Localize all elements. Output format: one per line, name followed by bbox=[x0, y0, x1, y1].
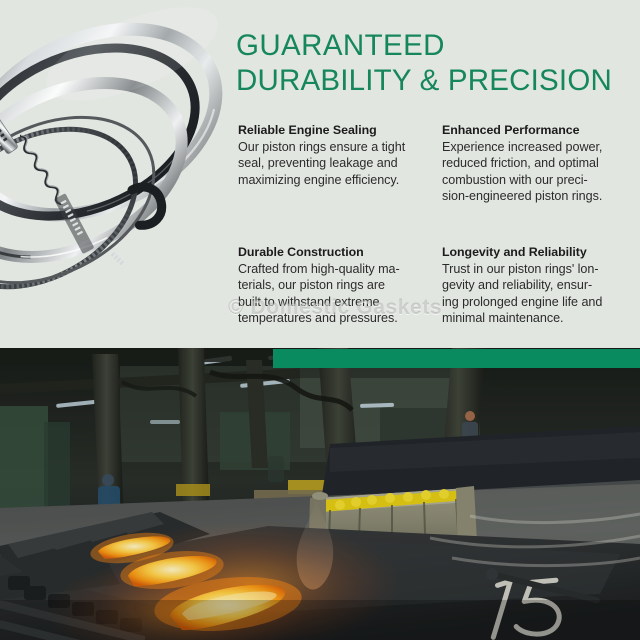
headline: GUARANTEED DURABILITY & PRECISION bbox=[236, 28, 636, 98]
feature-longevity-and-reliability: Longevity and Reliability Trust in our p… bbox=[442, 244, 636, 327]
piston-rings-image bbox=[0, 0, 230, 346]
headline-line-2: DURABILITY & PRECISION bbox=[236, 63, 636, 98]
feature-body: Experience increased power, reduced fric… bbox=[442, 139, 636, 205]
feature-body: Trust in our piston rings' lon- gevity a… bbox=[442, 261, 636, 327]
feature-title: Longevity and Reliability bbox=[442, 244, 636, 260]
feature-title: Durable Construction bbox=[238, 244, 442, 260]
green-accent-bar bbox=[273, 349, 640, 368]
feature-body: Crafted from high-quality ma- terials, o… bbox=[238, 261, 442, 327]
factory-photo bbox=[0, 348, 640, 640]
headline-line-1: GUARANTEED bbox=[236, 28, 636, 63]
marketing-banner: GUARANTEED DURABILITY & PRECISION Reliab… bbox=[0, 0, 640, 640]
feature-reliable-engine-sealing: Reliable Engine Sealing Our piston rings… bbox=[238, 122, 442, 244]
top-panel: GUARANTEED DURABILITY & PRECISION Reliab… bbox=[0, 0, 640, 348]
feature-title: Reliable Engine Sealing bbox=[238, 122, 442, 138]
feature-enhanced-performance: Enhanced Performance Experience increase… bbox=[442, 122, 636, 244]
feature-grid: Reliable Engine Sealing Our piston rings… bbox=[238, 122, 636, 327]
feature-title: Enhanced Performance bbox=[442, 122, 636, 138]
feature-durable-construction: Durable Construction Crafted from high-q… bbox=[238, 244, 442, 327]
feature-body: Our piston rings ensure a tight seal, pr… bbox=[238, 139, 442, 188]
